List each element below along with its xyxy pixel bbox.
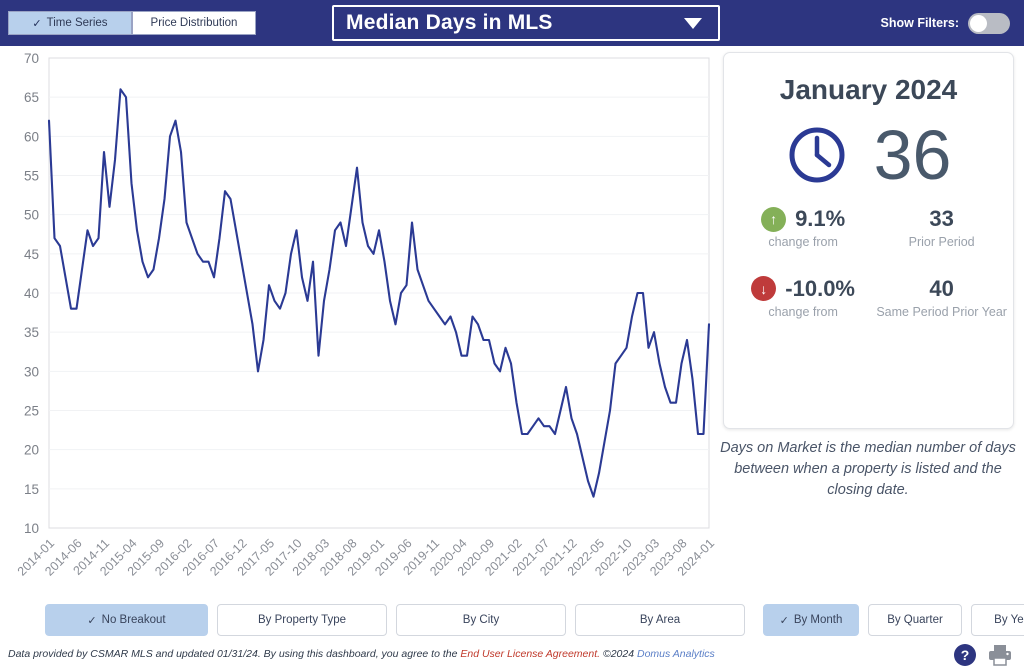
button-by-area[interactable]: By Area <box>575 604 745 636</box>
check-icon: ✓ <box>87 614 96 627</box>
toggle-knob <box>970 15 987 32</box>
metric-number: 33 <box>876 206 1007 232</box>
button-by-city-label: By City <box>463 614 499 626</box>
table-row: ↓ -10.0% change from 40 Same Period Prio… <box>724 276 1013 321</box>
arrow-up-icon: ↑ <box>761 207 786 232</box>
svg-text:35: 35 <box>24 325 39 340</box>
metric-number-caption: Same Period Prior Year <box>876 305 1007 321</box>
time-series-chart[interactable]: 101520253035404550556065702014-012014-06… <box>0 46 718 598</box>
metric-change-prior-period: ↑ 9.1% change from <box>730 206 876 251</box>
tab-price-distribution-label: Price Distribution <box>151 17 238 29</box>
page-title: Median Days in MLS <box>346 11 684 35</box>
breakout-button-group: ✓ No Breakout By Property Type By City B… <box>45 604 745 636</box>
show-filters-label: Show Filters: <box>881 16 959 30</box>
metric-change-prior-year: ↓ -10.0% change from <box>730 276 876 321</box>
svg-text:25: 25 <box>24 404 39 419</box>
metric-selector-dropdown[interactable]: Median Days in MLS <box>332 5 720 41</box>
svg-text:60: 60 <box>24 129 39 144</box>
tab-time-series[interactable]: ✓ Time Series <box>8 11 132 35</box>
button-by-month-label: By Month <box>794 614 843 626</box>
metric-percent: -10.0% <box>785 276 855 302</box>
kpi-period: January 2024 <box>724 74 1013 106</box>
help-icon[interactable]: ? <box>954 644 976 666</box>
bottom-toolbar: ✓ No Breakout By Property Type By City B… <box>0 600 1024 640</box>
svg-text:10: 10 <box>24 521 39 536</box>
eula-link[interactable]: End User License Agreement. <box>460 648 600 660</box>
metric-top: ↑ 9.1% <box>730 206 876 232</box>
button-by-property-type-label: By Property Type <box>258 614 346 626</box>
button-no-breakout[interactable]: ✓ No Breakout <box>45 604 208 636</box>
svg-text:65: 65 <box>24 90 39 105</box>
tab-price-distribution[interactable]: Price Distribution <box>132 11 256 35</box>
footer-copyright: ©2024 <box>600 648 637 660</box>
chevron-down-icon <box>684 18 702 29</box>
button-by-area-label: By Area <box>640 614 680 626</box>
metric-description: Days on Market is the median number of d… <box>718 438 1018 501</box>
svg-text:20: 20 <box>24 443 39 458</box>
metric-top: ↓ -10.0% <box>730 276 876 302</box>
footer-text: Data provided by CSMAR MLS and updated 0… <box>8 648 460 660</box>
show-filters-control: Show Filters: <box>881 0 1010 46</box>
check-icon: ✓ <box>780 614 789 627</box>
svg-text:55: 55 <box>24 169 39 184</box>
metric-percent-caption: change from <box>730 235 876 251</box>
kpi-card: January 2024 36 ↑ 9.1% change from 33 Pr… <box>723 52 1014 429</box>
button-by-property-type[interactable]: By Property Type <box>217 604 387 636</box>
show-filters-toggle[interactable] <box>968 13 1010 34</box>
svg-text:40: 40 <box>24 286 39 301</box>
metric-percent-caption: change from <box>730 305 876 321</box>
check-icon: ✓ <box>32 17 41 30</box>
svg-text:30: 30 <box>24 364 39 379</box>
printer-icon[interactable] <box>988 644 1012 666</box>
button-by-month[interactable]: ✓ By Month <box>763 604 859 636</box>
tab-time-series-label: Time Series <box>47 17 108 29</box>
svg-text:45: 45 <box>24 247 39 262</box>
button-by-quarter[interactable]: By Quarter <box>868 604 962 636</box>
metric-row: ↑ 9.1% change from 33 Prior Period <box>724 206 1013 251</box>
button-by-year-label: By Year <box>994 614 1024 626</box>
button-by-year[interactable]: By Year <box>971 604 1024 636</box>
kpi-value: 36 <box>874 120 952 190</box>
arrow-down-icon: ↓ <box>751 276 776 301</box>
button-no-breakout-label: No Breakout <box>102 614 166 626</box>
svg-text:15: 15 <box>24 482 39 497</box>
clock-icon <box>786 124 848 186</box>
footer-disclaimer: Data provided by CSMAR MLS and updated 0… <box>8 648 715 660</box>
footer-icons: ? <box>954 644 1012 666</box>
svg-text:50: 50 <box>24 208 39 223</box>
svg-text:70: 70 <box>24 51 39 66</box>
brand-link[interactable]: Domus Analytics <box>637 648 715 660</box>
app-header: ✓ Time Series Price Distribution Median … <box>0 0 1024 46</box>
metric-number-caption: Prior Period <box>876 235 1007 251</box>
metric-number: 40 <box>876 276 1007 302</box>
view-tabs: ✓ Time Series Price Distribution <box>8 11 256 35</box>
button-by-city[interactable]: By City <box>396 604 566 636</box>
metric-prior-period: 33 Prior Period <box>876 206 1007 251</box>
kpi-metrics: ↑ 9.1% change from 33 Prior Period ↓ -10… <box>724 206 1013 320</box>
period-button-group: ✓ By Month By Quarter By Year <box>763 604 1024 636</box>
kpi-main: 36 <box>724 120 1013 190</box>
button-by-quarter-label: By Quarter <box>887 614 943 626</box>
chart-svg: 101520253035404550556065702014-012014-06… <box>0 46 718 598</box>
metric-prior-year: 40 Same Period Prior Year <box>876 276 1007 321</box>
metric-percent: 9.1% <box>795 206 845 232</box>
